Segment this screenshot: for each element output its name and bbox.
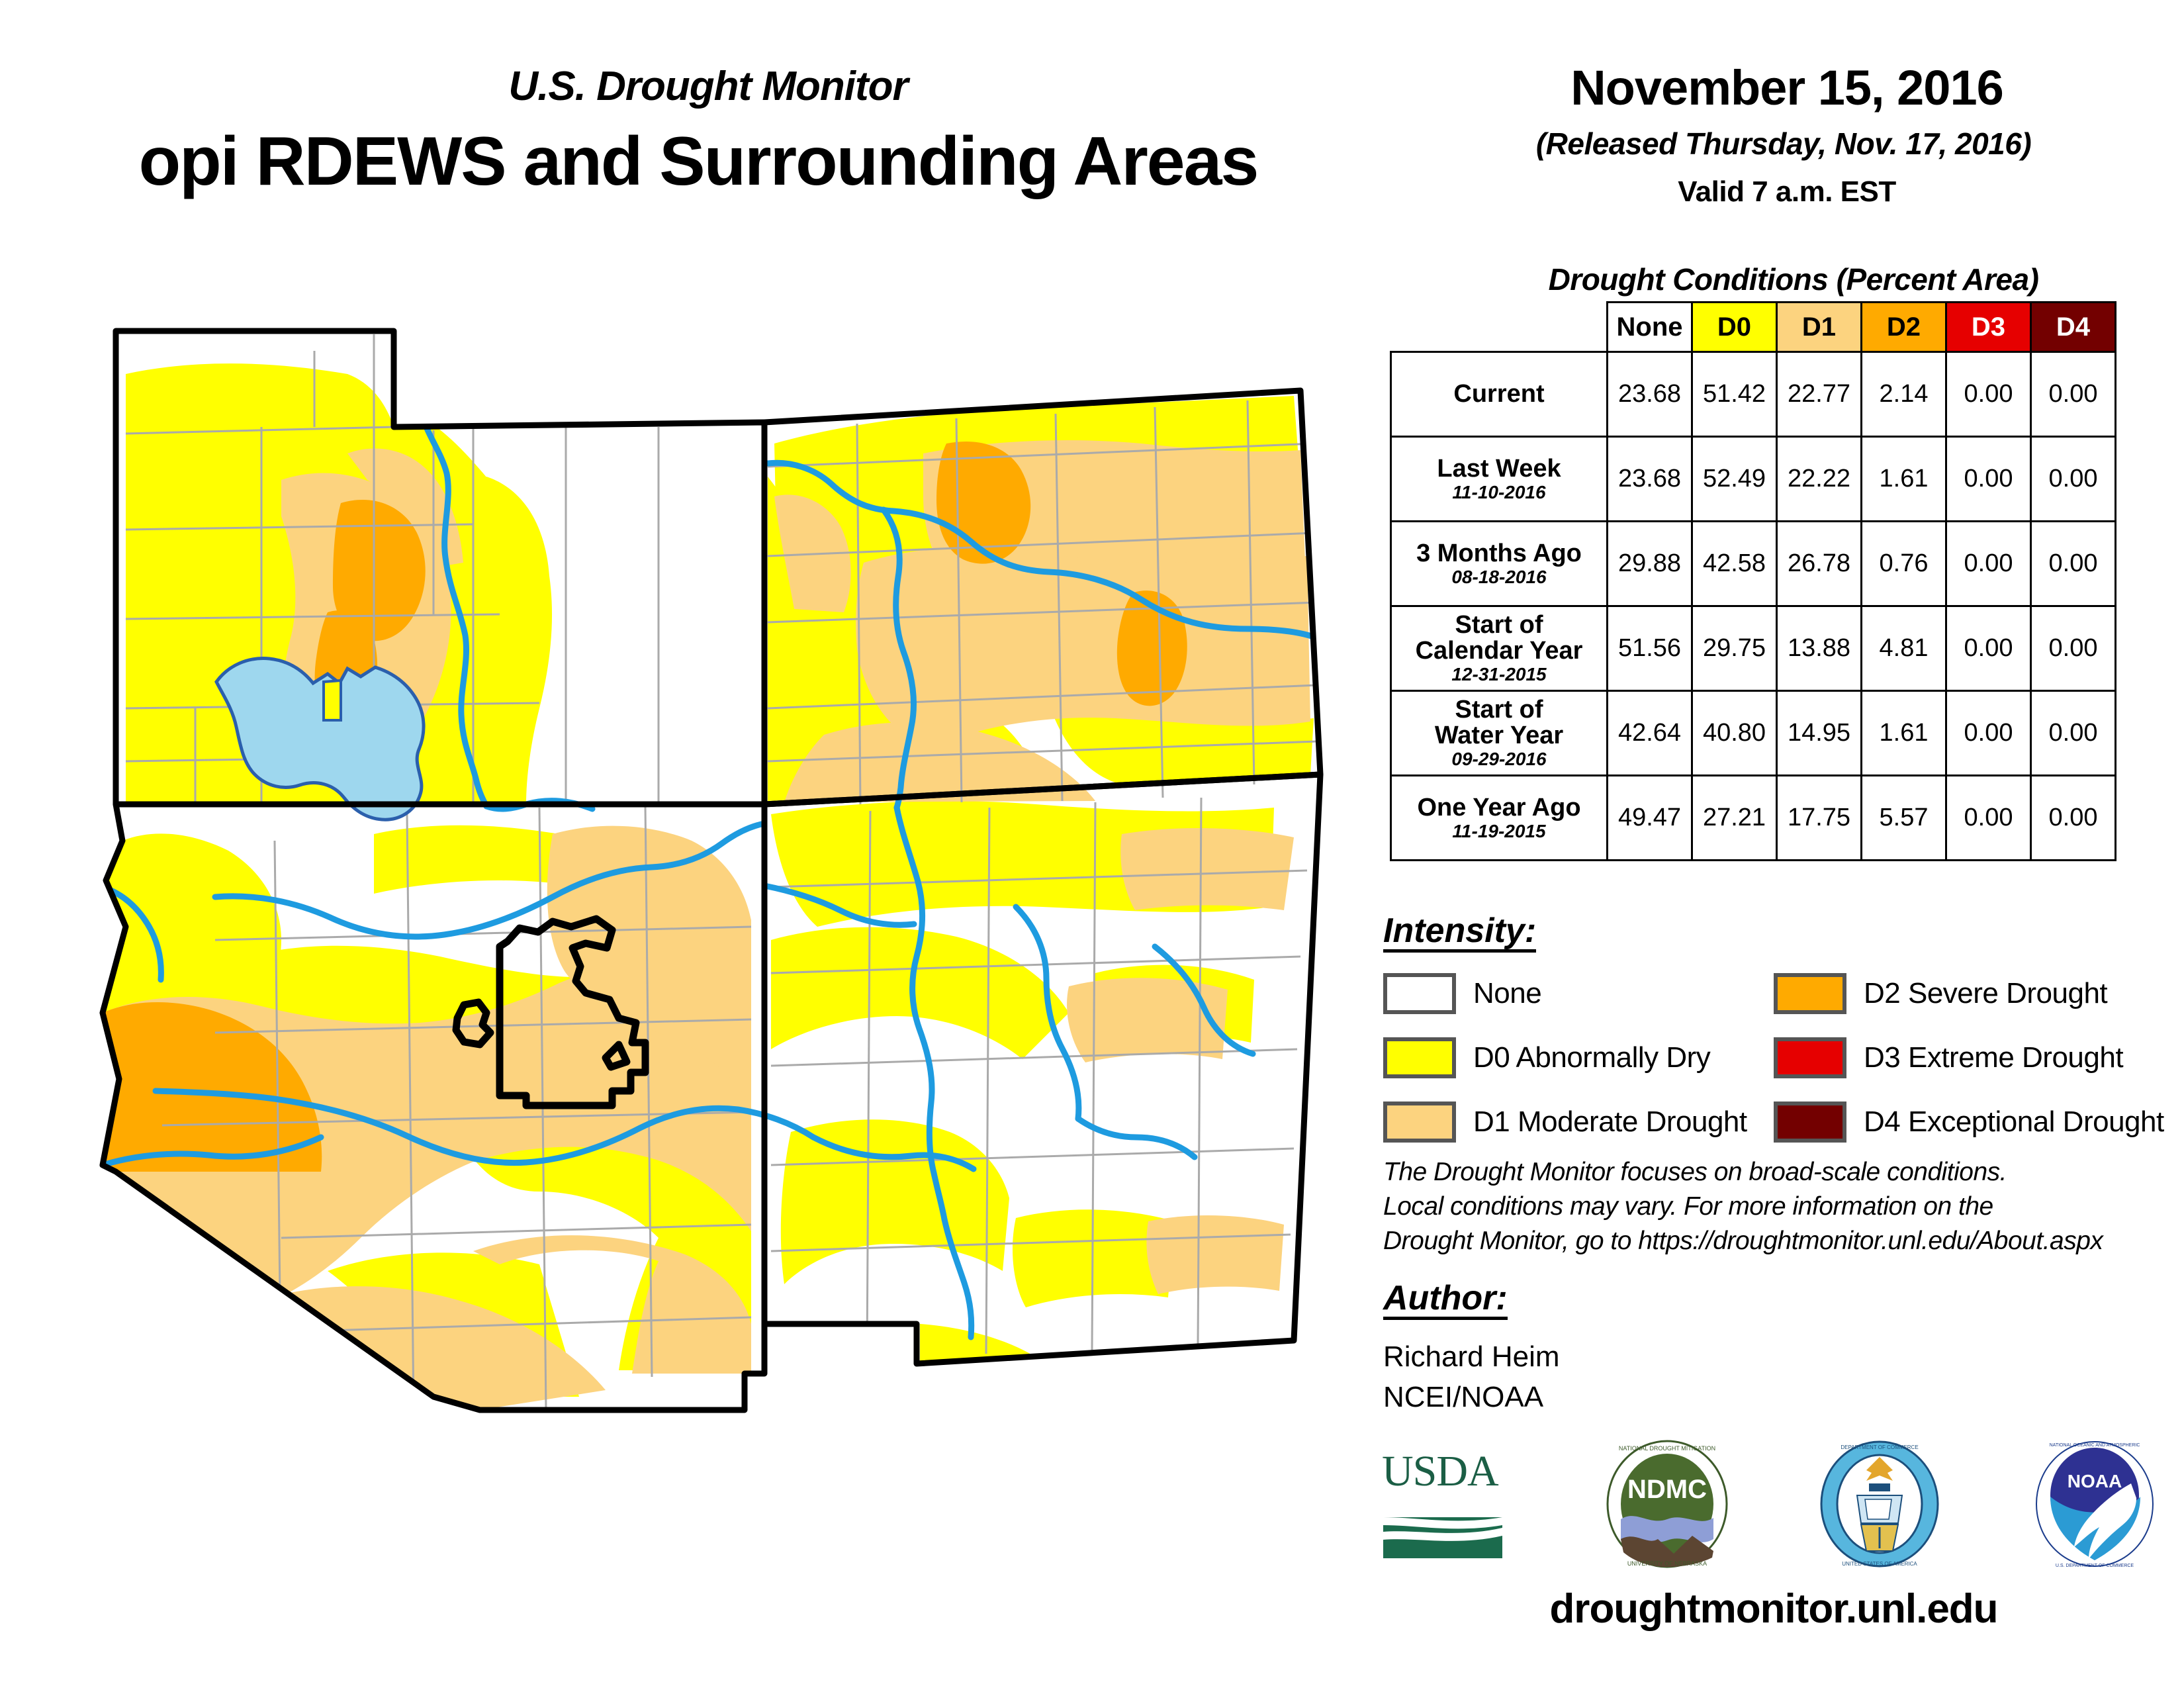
- legend-row: None D2 Severe Drought: [1383, 973, 2164, 1014]
- table-cell-d0: 40.80: [1692, 691, 1777, 776]
- row-label: Last Week11-10-2016: [1391, 437, 1608, 522]
- table-cell-d3: 0.00: [1946, 606, 2031, 691]
- svg-text:NATIONAL OCEANIC AND ATMOSPHER: NATIONAL OCEANIC AND ATMOSPHERIC: [2050, 1443, 2140, 1448]
- svg-text:USDA: USDA: [1382, 1447, 1499, 1495]
- usdm-label: U.S. Drought Monitor: [410, 63, 1006, 110]
- valid-date: November 15, 2016: [1456, 60, 2118, 116]
- row-label-date: 11-10-2016: [1392, 483, 1606, 502]
- legend-label: D3 Extreme Drought: [1864, 1041, 2123, 1074]
- table-corner-cell: [1391, 303, 1608, 352]
- disclaimer: The Drought Monitor focuses on broad-sca…: [1383, 1155, 2164, 1258]
- table-cell-d0: 51.42: [1692, 352, 1777, 437]
- row-label: Start ofCalendar Year12-31-2015: [1391, 606, 1608, 691]
- table-cell-d1: 13.88: [1777, 606, 1862, 691]
- table-title: Drought Conditions (Percent Area): [1443, 261, 2144, 297]
- row-label-text: One Year Ago11-19-2015: [1392, 795, 1606, 841]
- table-cell-d3: 0.00: [1946, 776, 2031, 861]
- table-cell-none: 29.88: [1608, 522, 1692, 606]
- table-cell-d2: 1.61: [1862, 691, 1946, 776]
- legend-item-d3: D3 Extreme Drought: [1774, 1037, 2164, 1078]
- svg-text:NOAA: NOAA: [2068, 1471, 2122, 1491]
- table-cell-d3: 0.00: [1946, 437, 2031, 522]
- table-cell-d1: 26.78: [1777, 522, 1862, 606]
- ndmc-logo: NDMC NATIONAL DROUGHT MITIGATION UNIVERS…: [1606, 1440, 1729, 1572]
- drought-conditions-table: None D0 D1 D2 D3 D4 Current23.6851.4222.…: [1390, 301, 2116, 861]
- row-label-text: Start ofCalendar Year12-31-2015: [1392, 612, 1606, 684]
- legend-label: D4 Exceptional Drought: [1864, 1105, 2164, 1139]
- svg-text:UNITED STATES OF AMERICA: UNITED STATES OF AMERICA: [1843, 1561, 1918, 1567]
- disclaimer-line-3: Drought Monitor, go to https://droughtmo…: [1383, 1224, 2164, 1258]
- table-row: One Year Ago11-19-201549.4727.2117.755.5…: [1391, 776, 2116, 861]
- col-header-none: None: [1608, 303, 1692, 352]
- disclaimer-line-1: The Drought Monitor focuses on broad-sca…: [1383, 1155, 2164, 1190]
- svg-text:U.S. DEPARTMENT OF COMMERCE: U.S. DEPARTMENT OF COMMERCE: [2056, 1564, 2134, 1568]
- row-label-text: Start ofWater Year09-29-2016: [1392, 697, 1606, 769]
- legend-item-d4: D4 Exceptional Drought: [1774, 1102, 2164, 1143]
- table-cell-none: 42.64: [1608, 691, 1692, 776]
- table-cell-d4: 0.00: [2031, 437, 2116, 522]
- table-cell-none: 23.68: [1608, 437, 1692, 522]
- table-cell-d3: 0.00: [1946, 522, 2031, 606]
- legend-label: D1 Moderate Drought: [1473, 1105, 1747, 1139]
- table-cell-none: 49.47: [1608, 776, 1692, 861]
- row-label-text: 3 Months Ago08-18-2016: [1392, 541, 1606, 587]
- author-info: Richard Heim NCEI/NOAA: [1383, 1337, 1560, 1417]
- svg-text:NATIONAL DROUGHT MITIGATION: NATIONAL DROUGHT MITIGATION: [1619, 1445, 1715, 1452]
- swatch-d0-icon: [1383, 1037, 1456, 1078]
- swatch-d3-icon: [1774, 1037, 1846, 1078]
- department-of-commerce-logo: DEPARTMENT OF COMMERCE UNITED STATES OF …: [1819, 1440, 1941, 1572]
- swatch-d4-icon: [1774, 1102, 1846, 1143]
- table-row: Start ofWater Year09-29-201642.6440.8014…: [1391, 691, 2116, 776]
- valid-time: Valid 7 a.m. EST: [1456, 175, 2118, 209]
- row-label-date: 12-31-2015: [1392, 665, 1606, 684]
- table-cell-d3: 0.00: [1946, 352, 2031, 437]
- legend-label: D2 Severe Drought: [1864, 977, 2107, 1010]
- intensity-heading: Intensity:: [1383, 914, 1536, 953]
- agency-logos: USDA NDMC NATIONAL DROUGHT MITIGATION UN…: [1377, 1440, 2158, 1572]
- row-label: 3 Months Ago08-18-2016: [1391, 522, 1608, 606]
- svg-text:DEPARTMENT OF COMMERCE: DEPARTMENT OF COMMERCE: [1841, 1444, 1919, 1450]
- table-cell-d3: 0.00: [1946, 691, 2031, 776]
- table-cell-d1: 14.95: [1777, 691, 1862, 776]
- row-label-text: Current: [1392, 381, 1606, 407]
- author-heading: Author:: [1383, 1281, 1508, 1320]
- table-cell-d1: 22.77: [1777, 352, 1862, 437]
- swatch-none-icon: [1383, 973, 1456, 1014]
- table-cell-d4: 0.00: [2031, 522, 2116, 606]
- noaa-logo: NOAA NATIONAL OCEANIC AND ATMOSPHERIC U.…: [2032, 1440, 2158, 1572]
- table-cell-d4: 0.00: [2031, 776, 2116, 861]
- table-cell-d1: 17.75: [1777, 776, 1862, 861]
- swatch-d1-icon: [1383, 1102, 1456, 1143]
- table-cell-none: 51.56: [1608, 606, 1692, 691]
- table-cell-d0: 29.75: [1692, 606, 1777, 691]
- table-cell-d4: 0.00: [2031, 691, 2116, 776]
- svg-text:NDMC: NDMC: [1627, 1475, 1707, 1504]
- table-cell-d0: 27.21: [1692, 776, 1777, 861]
- table-cell-d0: 52.49: [1692, 437, 1777, 522]
- disclaimer-line-2: Local conditions may vary. For more info…: [1383, 1190, 2164, 1224]
- author-name: Richard Heim: [1383, 1337, 1560, 1378]
- row-label-text: Last Week11-10-2016: [1392, 456, 1606, 502]
- table-header-row: None D0 D1 D2 D3 D4: [1391, 303, 2116, 352]
- page-title: opi RDEWS and Surrounding Areas: [0, 122, 1436, 201]
- col-header-d2: D2: [1862, 303, 1946, 352]
- col-header-d3: D3: [1946, 303, 2031, 352]
- legend-label: D0 Abnormally Dry: [1473, 1041, 1710, 1074]
- swatch-d2-icon: [1774, 973, 1846, 1014]
- table-body: Current23.6851.4222.772.140.000.00Last W…: [1391, 352, 2116, 861]
- intensity-legend: None D2 Severe Drought D0 Abnormally Dry…: [1383, 973, 2164, 1166]
- table-cell-d2: 2.14: [1862, 352, 1946, 437]
- table-cell-d0: 42.58: [1692, 522, 1777, 606]
- table-cell-d2: 1.61: [1862, 437, 1946, 522]
- legend-row: D0 Abnormally Dry D3 Extreme Drought: [1383, 1037, 2164, 1078]
- col-header-d0: D0: [1692, 303, 1777, 352]
- usda-logo: USDA: [1377, 1443, 1516, 1569]
- website-url: droughtmonitor.unl.edu: [1377, 1585, 2171, 1632]
- row-label: One Year Ago11-19-2015: [1391, 776, 1608, 861]
- legend-item-d2: D2 Severe Drought: [1774, 973, 2164, 1014]
- release-date: (Released Thursday, Nov. 17, 2016): [1443, 126, 2124, 162]
- table-cell-d2: 0.76: [1862, 522, 1946, 606]
- row-label-date: 09-29-2016: [1392, 750, 1606, 769]
- table-row: 3 Months Ago08-18-201629.8842.5826.780.7…: [1391, 522, 2116, 606]
- table-cell-none: 23.68: [1608, 352, 1692, 437]
- col-header-d4: D4: [2031, 303, 2116, 352]
- legend-item-none: None: [1383, 973, 1774, 1014]
- legend-item-d0: D0 Abnormally Dry: [1383, 1037, 1774, 1078]
- col-header-d1: D1: [1777, 303, 1862, 352]
- table-row: Current23.6851.4222.772.140.000.00: [1391, 352, 2116, 437]
- table-row: Last Week11-10-201623.6852.4922.221.610.…: [1391, 437, 2116, 522]
- four-corners-drought-map[interactable]: [63, 311, 1340, 1622]
- table-cell-d1: 22.22: [1777, 437, 1862, 522]
- author-affiliation: NCEI/NOAA: [1383, 1378, 1560, 1418]
- legend-item-d1: D1 Moderate Drought: [1383, 1102, 1774, 1143]
- row-label-date: 11-19-2015: [1392, 822, 1606, 841]
- row-label: Start ofWater Year09-29-2016: [1391, 691, 1608, 776]
- table-cell-d4: 0.00: [2031, 606, 2116, 691]
- legend-label: None: [1473, 977, 1541, 1010]
- row-label: Current: [1391, 352, 1608, 437]
- svg-text:UNIVERSITY OF NEBRASKA: UNIVERSITY OF NEBRASKA: [1627, 1560, 1706, 1567]
- legend-row: D1 Moderate Drought D4 Exceptional Droug…: [1383, 1102, 2164, 1143]
- table-row: Start ofCalendar Year12-31-201551.5629.7…: [1391, 606, 2116, 691]
- table-cell-d2: 4.81: [1862, 606, 1946, 691]
- row-label-date: 08-18-2016: [1392, 568, 1606, 587]
- table-cell-d2: 5.57: [1862, 776, 1946, 861]
- table-cell-d4: 0.00: [2031, 352, 2116, 437]
